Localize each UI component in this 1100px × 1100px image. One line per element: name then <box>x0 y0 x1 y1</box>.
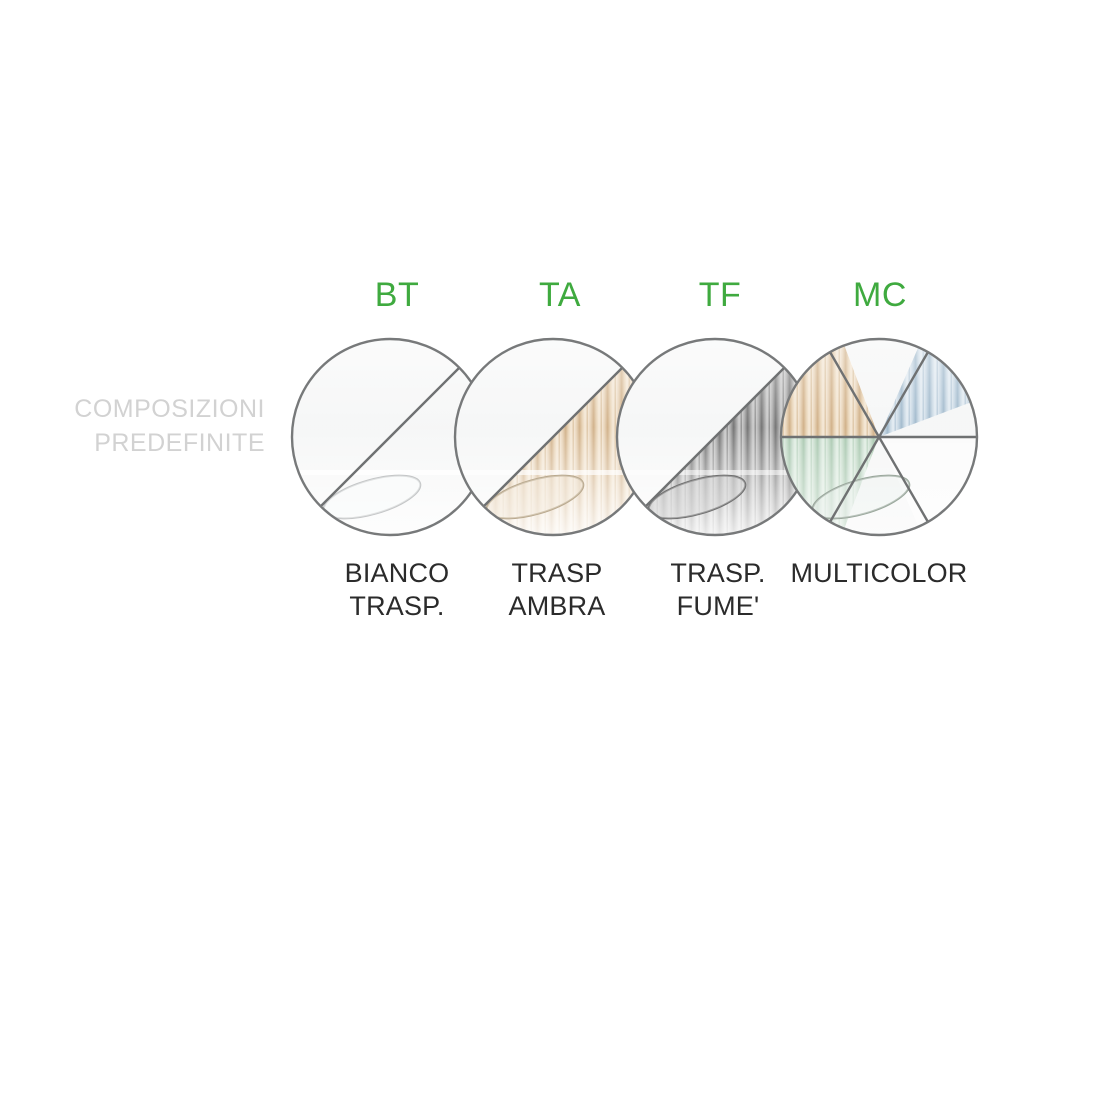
swatch-label-ta-line-2: AMBRA <box>467 590 647 623</box>
swatch-label-bt-line-1: BIANCO <box>307 557 487 590</box>
swatch-label-ta-line-1: TRASP <box>467 557 647 590</box>
swatch-circle-mc <box>781 339 977 535</box>
swatch-label-bt-line-2: TRASP. <box>307 590 487 623</box>
swatch-label-mc-line-1: MULTICOLOR <box>789 557 969 590</box>
swatch-label-tf: TRASP. FUME' <box>628 557 808 623</box>
swatch-label-tf-line-2: FUME' <box>628 590 808 623</box>
diagram-canvas: COMPOSIZIONI PREDEFINITE BT TA TF MC <box>0 0 1100 1100</box>
swatch-label-mc: MULTICOLOR <box>789 557 969 590</box>
swatch-label-tf-line-1: TRASP. <box>628 557 808 590</box>
swatch-circles-svg <box>0 0 1100 640</box>
swatch-label-bt: BIANCO TRASP. <box>307 557 487 623</box>
swatch-label-ta: TRASP AMBRA <box>467 557 647 623</box>
